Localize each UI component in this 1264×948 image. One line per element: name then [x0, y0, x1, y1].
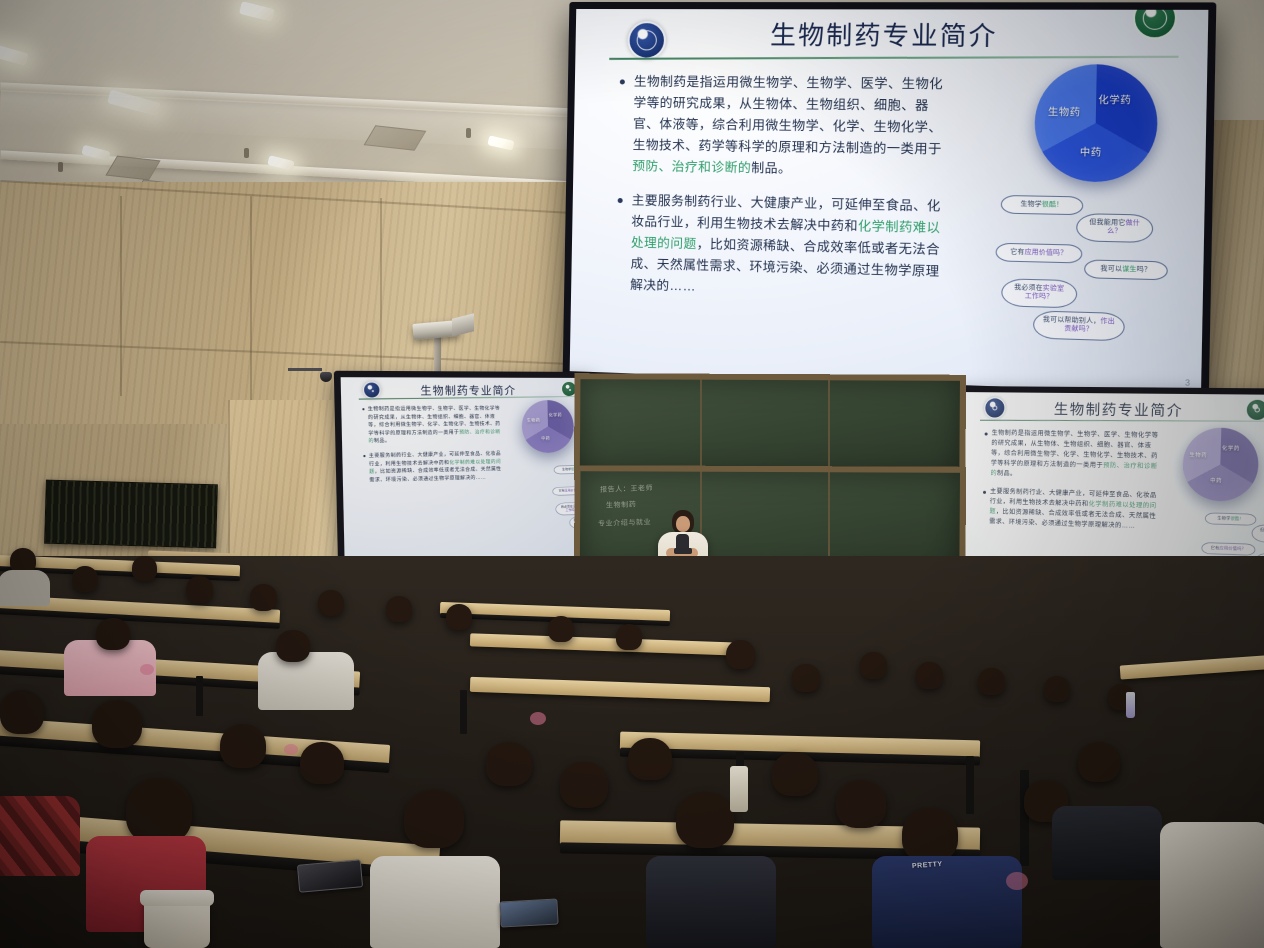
audience-head: [1078, 742, 1120, 782]
audience-torso: [0, 570, 50, 606]
title-divider: [609, 56, 1178, 60]
tumbler-lid: [140, 890, 214, 906]
audience-head: [92, 700, 142, 748]
audience-head: [792, 664, 820, 692]
drug-category-pie-chart: 化学药 中药 生物药: [1034, 64, 1159, 183]
rm-pie-label-3: 生物药: [1189, 451, 1207, 459]
equipment-rack-panel: [44, 480, 218, 549]
audience-head: [860, 652, 887, 679]
thought-bubble-group: 生物学很酷！ 但我能用它做什么？ 它有应用价值吗？ 我可以谋生吗？ 我必须在实验…: [994, 193, 1194, 355]
audience-head: [916, 662, 943, 689]
audience-dark-jacket: [646, 856, 776, 948]
audience-head: [726, 640, 755, 669]
main-presentation-screen[interactable]: 生物制药专业简介 生物制药是指运用微生物学、生物学、医学、生物化学等的研究成果，…: [563, 2, 1217, 401]
ceiling-speaker-4: [466, 128, 471, 138]
audience-head: [560, 762, 608, 808]
bullet-1-text-before: 生物制药是指运用微生物学、生物学、医学、生物化学等的研究成果，从生物体、生物组织…: [633, 74, 944, 156]
slide-title: 生物制药专业简介: [575, 15, 1208, 54]
desk-sticker-2: [284, 744, 298, 755]
bubble-5-plain: 我必须在: [1014, 284, 1043, 292]
seat-sticker: [1006, 872, 1028, 890]
lm-pie-label-3: 生物药: [527, 417, 541, 423]
wall-seam-3: [120, 196, 122, 396]
bullet-1-highlight: 预防、治疗和诊断的: [632, 159, 751, 175]
smartphone-on-desk-2[interactable]: [499, 899, 558, 928]
bubble-4-tail: 吗？: [1137, 266, 1152, 274]
audience-head: [276, 630, 310, 662]
rm-b3-p: 它有: [1211, 546, 1220, 551]
rm-b1-p: 生物学: [1217, 516, 1230, 521]
presenter-face: [676, 516, 690, 532]
lm-b1-after: 制品。: [374, 438, 390, 444]
audience-head: [1044, 676, 1070, 702]
right-monitor-bullet-2: 主要服务制药行业、大健康产业，可延伸至食品、化妆品行业，利用生物技术去解决中药和…: [981, 487, 1163, 533]
rm-pie-label-2: 中药: [1210, 477, 1222, 485]
left-side-monitor[interactable]: 生物制药专业简介 生物制药是指运用微生物学、生物学、医学、生物化学等的研究成果，…: [334, 371, 598, 575]
thought-bubble-2: 但我能用它做什么？: [1076, 213, 1153, 243]
audience-head: [486, 742, 532, 786]
slide-bullet-1: 生物制药是指运用微生物学、生物学、医学、生物化学等的研究成果，从生物体、生物组织…: [617, 71, 948, 182]
bubble-4-plain: 我可以: [1100, 265, 1122, 273]
lm-pie-label-1: 化学药: [549, 412, 563, 418]
desk-leg: [1020, 770, 1029, 866]
audience-head: [186, 576, 213, 603]
audience-head: [220, 724, 266, 768]
bullet-1-text-after: 制品。: [751, 161, 791, 176]
lm-b2-after: ，比如资源稀缺、合成效率低或者无法合成、天然属性需求、环境污染、必须通过生物学原…: [369, 466, 501, 482]
left-monitor-bullet-2: 主要服务制药行业、大健康产业，可延伸至食品、化妆品行业，利用生物技术去解决中药和…: [362, 449, 503, 484]
audience-head: [300, 742, 344, 784]
slide-canvas: 生物制药专业简介 生物制药是指运用微生物学、生物学、医学、生物化学等的研究成果，…: [570, 9, 1209, 394]
bubble-3-plain: 它有: [1010, 248, 1024, 256]
audience-light-jacket: [1160, 822, 1264, 948]
presenter-clicker: [674, 548, 692, 554]
bubble-3-accent: 应用价值吗？: [1024, 249, 1067, 257]
audience-head: [250, 584, 277, 611]
audience-head: [676, 792, 734, 848]
rm-bubble-2: 但我能用它做什么？: [1251, 524, 1264, 543]
audience-head: [446, 604, 472, 630]
rm-b2-p: 但我能用它: [1260, 528, 1264, 533]
rm-b1-after: 制品。: [997, 470, 1017, 478]
thought-bubble-5: 我必须在实验室工作吗？: [1001, 278, 1077, 308]
rm-b2-after: ，比如资源稀缺、合成效率低或者无法合成、天然属性需求、环境污染、必须通过生物学原…: [989, 508, 1156, 530]
thought-bubble-3: 它有应用价值吗？: [995, 243, 1082, 264]
rm-bubble-3: 它有应用价值吗？: [1201, 542, 1255, 556]
thought-bubble-6: 我可以帮助别人，作出贡献吗？: [1033, 310, 1125, 341]
left-monitor-slide: 生物制药专业简介 生物制药是指运用微生物学、生物学、医学、生物化学等的研究成果，…: [341, 377, 592, 567]
audience-cream-jacket: [370, 856, 500, 948]
camera-mount: [288, 368, 322, 371]
thermos-on-desk: [730, 766, 748, 812]
bubble-6-plain: 我可以帮助别人，: [1043, 316, 1101, 325]
right-monitor-bullet-1: 生物制药是指运用微生物学、生物学、医学、生物化学等的研究成果，从生物体、生物组织…: [982, 428, 1164, 483]
desk-sticker: [530, 712, 546, 725]
audience-head: [318, 590, 344, 616]
chalk-line-3: 专业介绍与就业: [598, 517, 652, 530]
jacket-logo-patch: [140, 664, 154, 675]
bubble-4-accent: 谋生: [1122, 266, 1137, 274]
audience-head: [386, 596, 412, 622]
desk-leg: [966, 756, 974, 814]
audience-head: [836, 780, 886, 828]
audience-head-foreground: [126, 778, 192, 844]
lecture-hall-photo: 生物制药专业简介 生物制药是指运用微生物学、生物学、医学、生物化学等的研究成果，…: [0, 0, 1264, 948]
left-monitor-bullet-1: 生物制药是指运用微生物学、生物学、医学、生物化学等的研究成果，从生物体、生物组织…: [361, 404, 502, 445]
audience-head: [902, 808, 958, 862]
right-monitor-divider: [980, 420, 1264, 423]
audience-blue-jacket: [872, 856, 1022, 948]
lm-pie-label-2: 中药: [541, 436, 550, 442]
audience-head: [96, 618, 130, 650]
ceiling-speaker-1: [58, 162, 63, 172]
audience-plaid-jacket: [0, 796, 80, 876]
blackboard-divider-2: [828, 374, 830, 570]
lm-b1-p: 生物学: [562, 468, 571, 471]
bubble-1-plain: 生物学: [1020, 200, 1042, 208]
smartphone-on-desk[interactable]: [297, 859, 363, 892]
desk-leg: [196, 676, 203, 716]
audience-head: [132, 556, 157, 581]
bubble-1-accent: 很酷！: [1042, 201, 1064, 209]
audience-head: [616, 624, 642, 650]
audience-grey-sweater: [258, 652, 354, 710]
audience-head: [404, 790, 464, 848]
ceiling-speaker-2: [244, 148, 249, 158]
slide-bullet-2: 主要服务制药行业、大健康产业，可延伸至食品、化妆品行业，利用生物技术去解决中药和…: [615, 190, 945, 305]
bubble-2-plain: 但我能用它: [1089, 219, 1125, 227]
pie-label-chemical: 化学药: [1098, 92, 1131, 107]
left-monitor-pie-chart: 化学药 中药 生物药: [521, 400, 574, 453]
right-monitor-pie-chart: 化学药 中药 生物药: [1182, 427, 1260, 502]
audience-head: [772, 752, 818, 796]
audience-head: [0, 690, 44, 734]
thought-bubble-4: 我可以谋生吗？: [1084, 259, 1168, 280]
rm-pie-label-1: 化学药: [1222, 445, 1240, 453]
audience-head: [548, 616, 574, 642]
right-monitor-title: 生物制药专业简介: [960, 398, 1264, 422]
audience-head: [72, 566, 98, 592]
chalk-line-1: 报告人：王老师: [600, 483, 654, 496]
wall-seam-4: [250, 196, 252, 406]
audience-head: [628, 738, 672, 780]
audience-torso: [1052, 806, 1162, 880]
desk-leg: [460, 690, 467, 734]
audience-head: [978, 668, 1005, 695]
left-monitor-bullets: 生物制药是指运用微生物学、生物学、医学、生物化学等的研究成果，从生物体、生物组织…: [361, 404, 503, 490]
slide-page-number: 3: [1185, 378, 1190, 388]
pie-label-biologic: 生物药: [1048, 104, 1081, 119]
rm-b1-a: 很酷！: [1230, 516, 1243, 521]
pie-label-tcm: 中药: [1080, 144, 1102, 159]
rm-b3-a: 应用价值吗？: [1219, 546, 1246, 551]
slide-bullet-list: 生物制药是指运用微生物学、生物学、医学、生物化学等的研究成果，从生物体、生物组织…: [615, 71, 948, 318]
thought-bubble-1: 生物学很酷！: [1001, 195, 1084, 216]
water-bottle-on-desk: [1126, 692, 1135, 718]
right-monitor-bullets: 生物制药是指运用微生物学、生物学、医学、生物化学等的研究成果，从生物体、生物组织…: [981, 428, 1165, 541]
rm-bubble-1: 生物学很酷！: [1205, 512, 1256, 525]
chalk-line-2: 生物制药: [606, 499, 637, 511]
